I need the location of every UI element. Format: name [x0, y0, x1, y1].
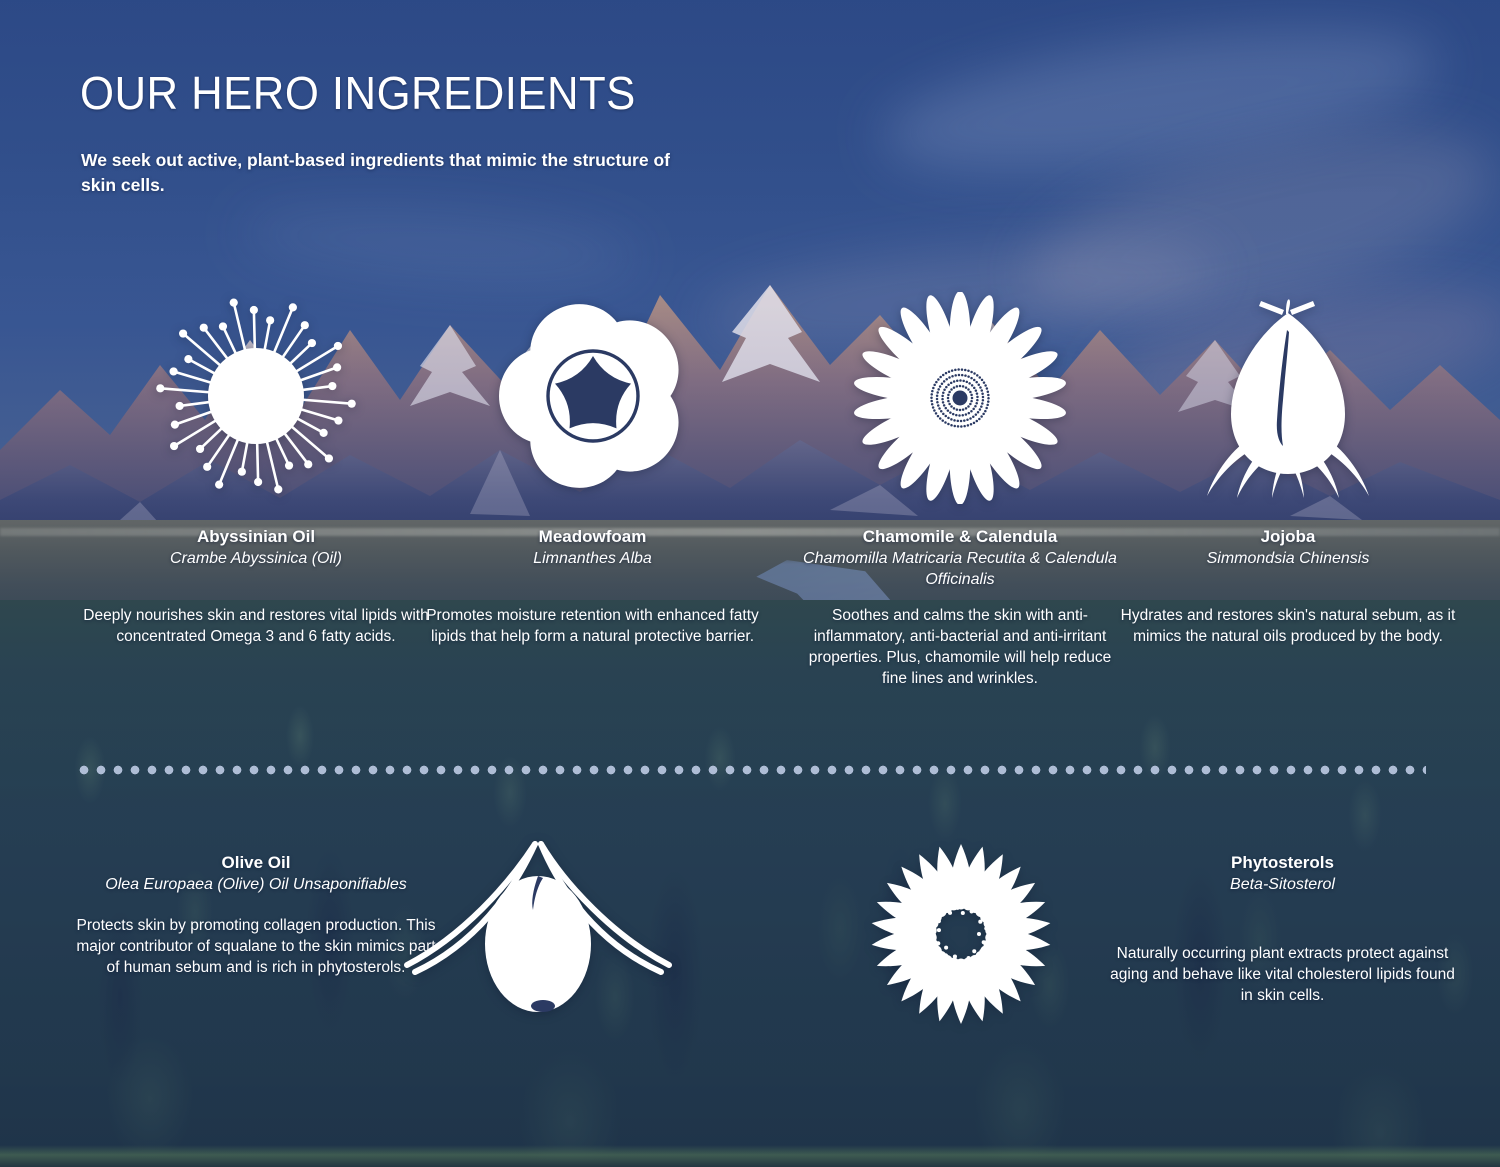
hero-ingredients-infographic: OUR HERO INGREDIENTS We seek out active,… — [0, 0, 1500, 1167]
ingredient-latin-name: Beta-Sitosterol — [1110, 874, 1455, 895]
ingredient-latin-name: Olea Europaea (Olive) Oil Unsaponifiable… — [72, 874, 440, 895]
sunflower-spiral-icon-wrap — [845, 818, 1077, 1050]
olive-with-leaves-icon — [393, 832, 683, 1032]
five-petal-flower-star-icon — [410, 292, 775, 504]
dotted-divider — [78, 764, 1426, 776]
page-title: OUR HERO INGREDIENTS — [80, 66, 636, 120]
radial-burst-seed-icon — [72, 292, 440, 504]
ingredient-description: Protects skin by promoting collagen prod… — [72, 915, 440, 978]
olive-with-leaves-icon-wrap — [393, 832, 683, 1032]
ingredient-card-olive-oil: Olive Oil Olea Europaea (Olive) Oil Unsa… — [72, 852, 440, 978]
ingredient-description: Promotes moisture retention with enhance… — [410, 605, 775, 647]
ingredient-description: Soothes and calms the skin with anti-inf… — [800, 605, 1120, 689]
ingredient-latin-name: Crambe Abyssinica (Oil) — [72, 548, 440, 569]
ingredient-card-jojoba: Jojoba Simmondsia Chinensis Hydrates and… — [1118, 292, 1458, 647]
ingredient-latin-name: Chamomilla Matricaria Recutita & Calendu… — [800, 548, 1120, 590]
content-layer: OUR HERO INGREDIENTS We seek out active,… — [0, 0, 1500, 1167]
ingredient-card-chamomile-calendula: Chamomile & Calendula Chamomilla Matrica… — [800, 292, 1120, 689]
ingredient-description: Naturally occurring plant extracts prote… — [1110, 943, 1455, 1006]
ingredient-latin-name: Limnanthes Alba — [410, 548, 775, 569]
ingredient-name: Phytosterols — [1110, 852, 1455, 874]
ingredient-name: Abyssinian Oil — [72, 526, 440, 548]
ingredient-description: Hydrates and restores skin's natural seb… — [1118, 605, 1458, 647]
ingredient-name: Chamomile & Calendula — [800, 526, 1120, 548]
ingredient-card-meadowfoam: Meadowfoam Limnanthes Alba Promotes mois… — [410, 292, 775, 647]
ingredient-latin-name: Simmondsia Chinensis — [1118, 548, 1458, 569]
page-subtitle: We seek out active, plant-based ingredie… — [81, 148, 681, 198]
jojoba-seed-icon — [1118, 292, 1458, 504]
ingredient-card-phytosterols: Phytosterols Beta-Sitosterol Naturally o… — [1110, 852, 1455, 1006]
sunflower-spiral-icon — [845, 818, 1077, 1050]
ingredient-name: Olive Oil — [72, 852, 440, 874]
ingredient-name: Jojoba — [1118, 526, 1458, 548]
daisy-flower-icon — [800, 292, 1120, 504]
ingredient-name: Meadowfoam — [410, 526, 775, 548]
ingredient-card-abyssinian-oil: Abyssinian Oil Crambe Abyssinica (Oil) D… — [72, 292, 440, 647]
ingredient-description: Deeply nourishes skin and restores vital… — [72, 605, 440, 647]
